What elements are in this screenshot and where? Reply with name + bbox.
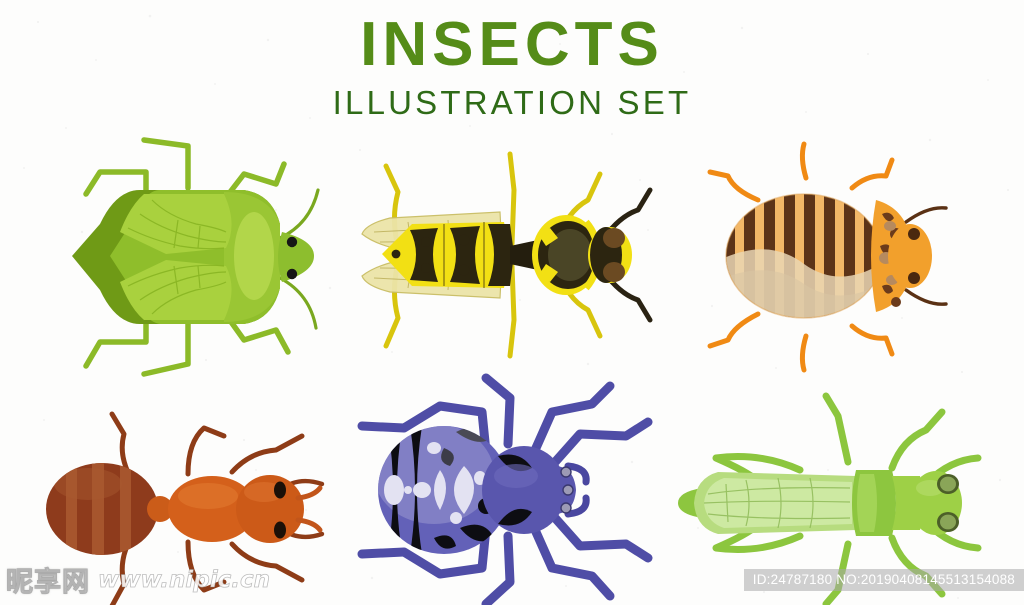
spider-eyes [561,467,573,513]
wasp-head [588,227,632,283]
beetle-eye-upper [908,228,920,240]
grasshopper-wings [694,472,856,534]
shield-bug-body [72,190,314,324]
beetle-elytra [724,194,884,324]
insect-ant [36,412,326,605]
insect-shield-bug [48,128,318,378]
page-subtitle: ILLUSTRATION SET [0,86,1024,119]
shield-bug-eye-lower [287,269,297,279]
ant-abdomen [46,462,158,558]
page-title: INSECTS [0,14,1024,76]
illustration-poster: INSECTS ILLUSTRATION SET [0,0,1024,605]
beetle-eye-lower [908,272,920,284]
ant-eye-upper [274,482,286,499]
insect-spider [348,378,658,605]
spider-cephalothorax [482,446,566,534]
spider-head [554,466,586,514]
insect-potato-beetle [700,138,950,373]
insect-grasshopper [660,396,990,605]
grasshopper-head [910,471,962,535]
wasp-eye-lower [603,262,625,282]
ant-head [236,475,320,543]
shield-bug-eye-upper [287,237,297,247]
insect-wasp [352,150,652,360]
title-block: INSECTS ILLUSTRATION SET [0,14,1024,119]
wasp-eye-upper [603,228,625,248]
beetle-head [888,224,932,288]
ant-eye-lower [274,522,286,539]
